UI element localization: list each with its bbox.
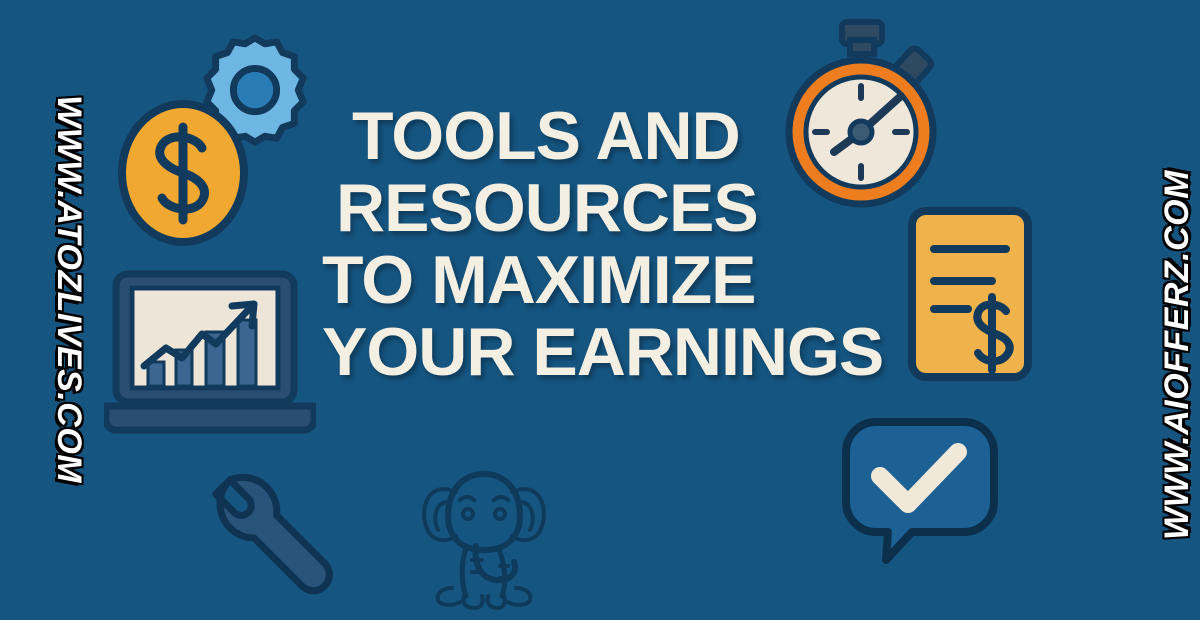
check-bubble-icon — [840, 410, 1000, 570]
headline-line-3: TO MAXIMIZE — [322, 244, 862, 316]
invoice-icon — [906, 205, 1034, 383]
elephant-icon — [404, 456, 564, 616]
wrench-icon — [196, 446, 360, 610]
headline-line-4: YOUR EARNINGS — [322, 316, 862, 388]
laptop-chart-icon — [104, 266, 316, 442]
banner-canvas: WWW.ATOZLIVES.COM WWW.AIOFFERZ.COM TOOLS… — [0, 0, 1200, 620]
watermark-left: WWW.ATOZLIVES.COM — [49, 95, 88, 483]
watermark-right: WWW.AIOFFERZ.COM — [1158, 170, 1197, 540]
stopwatch-icon — [778, 14, 944, 214]
dollar-coin-icon — [116, 98, 250, 248]
